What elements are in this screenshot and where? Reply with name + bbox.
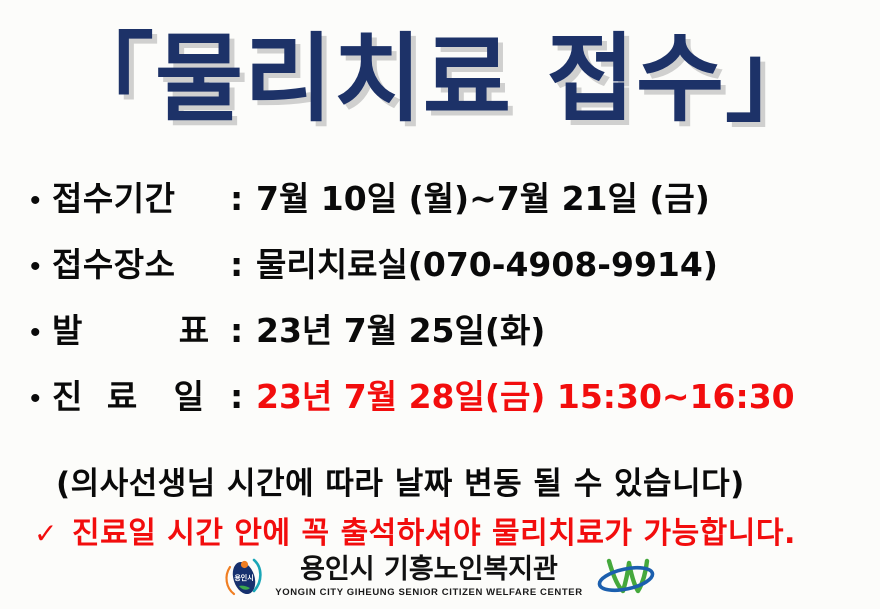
bullet-icon: • xyxy=(30,186,52,216)
bullet-icon: • xyxy=(30,384,52,414)
bullet-icon: • xyxy=(30,318,52,348)
bullet-icon: • xyxy=(30,252,52,282)
welfare-center-w-logo-icon xyxy=(593,555,659,599)
svg-text:용인시: 용인시 xyxy=(235,573,254,582)
note-text: (의사선생님 시간에 따라 날짜 변동 될 수 있습니다) xyxy=(56,458,745,503)
info-label-treatment-day: 진 료 일 xyxy=(52,370,230,418)
info-row-announcement: • 발 표 : 23년 7월 25일(화) xyxy=(0,304,880,370)
info-row-treatment-day: • 진 료 일 : 23년 7월 28일(금) 15:30~16:30 xyxy=(0,370,880,436)
info-value-registration-place: 물리치료실(070-4908-9914) xyxy=(256,238,718,286)
info-colon: : xyxy=(230,311,256,350)
poster-canvas: 「물리치료 접수」 • 접수기간 : 7월 10일 (월)~7월 21일 (금)… xyxy=(0,0,880,609)
page-title: 「물리치료 접수」 xyxy=(58,26,822,134)
info-colon: : xyxy=(230,245,256,284)
info-list: • 접수기간 : 7월 10일 (월)~7월 21일 (금) • 접수장소 : … xyxy=(0,172,880,436)
warning-text: 진료일 시간 안에 꼭 출석하셔야 물리치료가 가능합니다. xyxy=(72,508,796,552)
info-colon: : xyxy=(230,377,256,416)
yongin-city-emblem-icon: 용인시 xyxy=(221,554,267,600)
info-value-treatment-day: 23년 7월 28일(금) 15:30~16:30 xyxy=(256,370,795,418)
info-row-registration-period: • 접수기간 : 7월 10일 (월)~7월 21일 (금) xyxy=(0,172,880,238)
check-icon: ✓ xyxy=(28,517,72,550)
info-label-announcement: 발 표 xyxy=(52,304,230,352)
info-colon: : xyxy=(230,179,256,218)
organization-name-en: YONGIN CITY GIHEUNG SENIOR CITIZEN WELFA… xyxy=(275,588,582,598)
info-value-registration-period: 7월 10일 (월)~7월 21일 (금) xyxy=(256,172,710,220)
info-label-registration-period: 접수기간 xyxy=(52,172,230,220)
warning-container: ✓ 진료일 시간 안에 꼭 출석하셔야 물리치료가 가능합니다. xyxy=(28,508,872,552)
footer: 용인시 용인시 기흥노인복지관 YONGIN CITY GIHEUNG SENI… xyxy=(0,554,880,600)
info-row-registration-place: • 접수장소 : 물리치료실(070-4908-9914) xyxy=(0,238,880,304)
organization-name-kr: 용인시 기흥노인복지관 xyxy=(300,556,558,583)
title-container: 「물리치료 접수」 xyxy=(0,26,880,134)
info-value-announcement: 23년 7월 25일(화) xyxy=(256,304,545,352)
footer-text-block: 용인시 기흥노인복지관 YONGIN CITY GIHEUNG SENIOR C… xyxy=(275,556,582,598)
info-label-registration-place: 접수장소 xyxy=(52,238,230,286)
